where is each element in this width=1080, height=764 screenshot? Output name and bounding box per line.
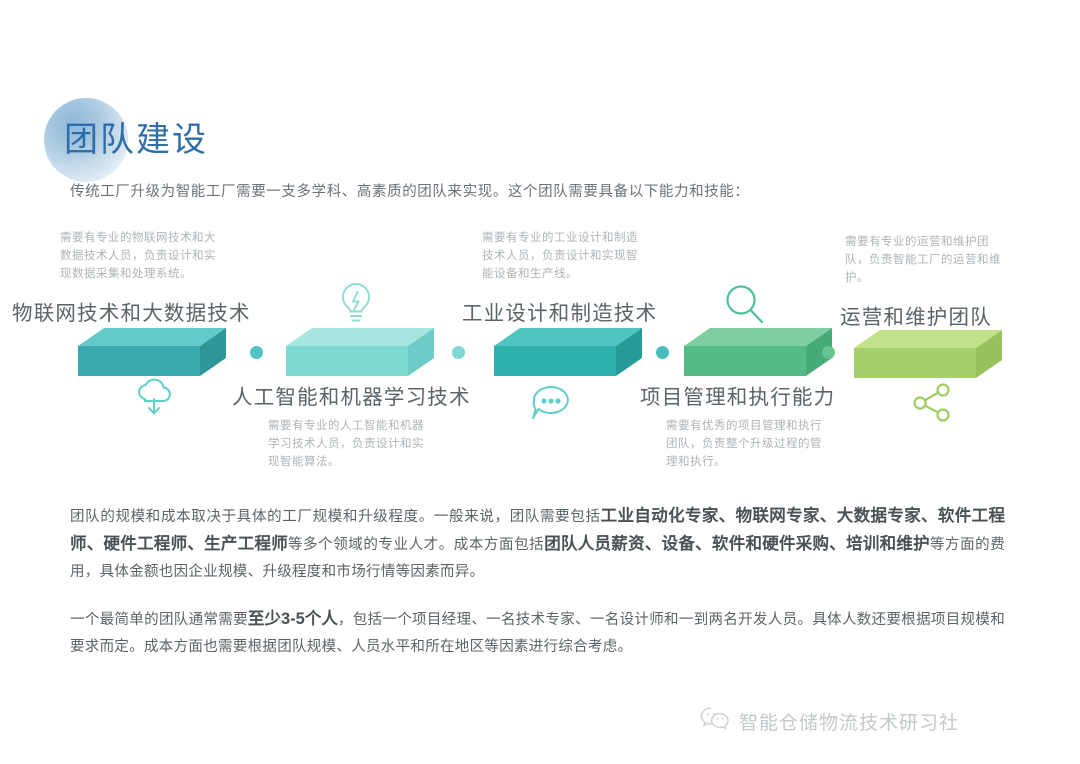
chat-bubble-icon	[528, 382, 574, 429]
wechat-icon	[700, 706, 730, 737]
cloud-download-icon	[133, 376, 175, 423]
text-run: 等多个领域的专业人才。成本方面包括	[288, 537, 544, 553]
node-connector-dot-1	[250, 346, 263, 359]
node-4-description: 需要有优秀的项目管理和执行团队，负责整个升级过程的管理和执行。	[666, 416, 831, 470]
node-5-block	[854, 330, 1002, 386]
magnifier-icon	[722, 282, 768, 333]
node-5-description: 需要有专业的运营和维护团队，负责智能工厂的运营和维护。	[845, 232, 1010, 286]
node-2-description: 需要有专业的人工智能和机器学习技术人员，负责设计和实现智能算法。	[268, 416, 433, 470]
emphasis-run: 至少3-5个人	[248, 610, 338, 628]
node-3-block	[494, 328, 642, 384]
node-4-block	[684, 328, 832, 384]
node-2-block	[286, 328, 434, 384]
footer-brand: 智能仓储物流技术研习社	[700, 706, 959, 737]
node-2-label: 人工智能和机器学习技术	[232, 380, 471, 410]
intro-paragraph: 传统工厂升级为智能工厂需要一支多学科、高素质的团队来实现。这个团队需要具备以下能…	[70, 180, 970, 201]
lightbulb-icon	[335, 280, 377, 333]
node-1-description: 需要有专业的物联网技术和大数据技术人员，负责设计和实现数据采集和处理系统。	[60, 228, 225, 282]
node-3-description: 需要有专业的工业设计和制造技术人员，负责设计和实现智能设备和生产线。	[482, 228, 647, 282]
page-title: 团队建设	[64, 112, 208, 161]
node-4-label: 项目管理和执行能力	[640, 380, 835, 410]
text-run: 团队的规模和成本取决于具体的工厂规模和升级程度。一般来说，团队需要包括	[70, 509, 601, 525]
node-3-label: 工业设计和制造技术	[462, 296, 657, 326]
slide-title-block: 团队建设	[44, 98, 374, 182]
capability-diagram: 需要有专业的物联网技术和大数据技术人员，负责设计和实现数据采集和处理系统。 物联…	[0, 218, 1080, 483]
emphasis-run: 团队人员薪资、设备、软件和硬件采购、培训和维护	[544, 535, 930, 553]
node-5-label: 运营和维护团队	[840, 300, 992, 330]
text-run: 一个最简单的团队通常需要	[70, 612, 248, 628]
slide-canvas: 团队建设 传统工厂升级为智能工厂需要一支多学科、高素质的团队来实现。这个团队需要…	[0, 0, 1080, 764]
share-nodes-icon	[910, 382, 956, 429]
node-connector-dot-3	[656, 346, 669, 359]
footer-brand-name: 智能仓储物流技术研习社	[739, 708, 959, 735]
paragraph-minimum-team: 一个最简单的团队通常需要至少3-5个人，包括一个项目经理、一名技术专家、一名设计…	[70, 606, 1005, 661]
paragraph-scale-and-cost: 团队的规模和成本取决于具体的工厂规模和升级程度。一般来说，团队需要包括工业自动化…	[70, 503, 1005, 586]
node-1-label: 物联网技术和大数据技术	[12, 296, 251, 326]
node-connector-dot-2	[452, 346, 465, 359]
node-connector-dot-4	[822, 346, 835, 359]
